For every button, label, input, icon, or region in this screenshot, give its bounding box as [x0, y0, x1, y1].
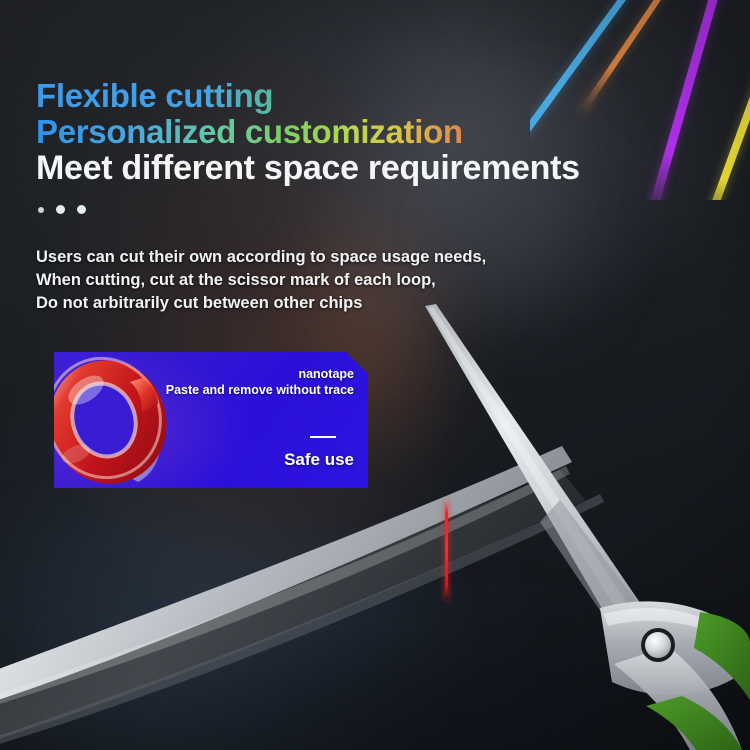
- dot-decoration: [38, 205, 86, 214]
- headline-line-2: Personalized customization: [36, 114, 580, 150]
- headline-line-1: Flexible cutting: [36, 78, 580, 114]
- body-line: When cutting, cut at the scissor mark of…: [36, 269, 486, 292]
- card-tagline: Paste and remove without trace: [166, 382, 354, 399]
- product-banner: Flexible cutting Personalized customizat…: [0, 0, 750, 750]
- decor-dot-icon: [77, 205, 86, 214]
- red-cut-mark: [445, 500, 448, 600]
- decor-dot-icon: [38, 207, 44, 213]
- headline-line-3: Meet different space requirements: [36, 150, 580, 186]
- card-brand: nanotape: [166, 366, 354, 382]
- card-divider: [310, 436, 336, 438]
- product-card: nanotape Paste and remove without trace …: [54, 352, 368, 488]
- body-line: Users can cut their own according to spa…: [36, 246, 486, 269]
- card-feature: Safe use: [284, 450, 354, 470]
- headline-block: Flexible cutting Personalized customizat…: [36, 78, 580, 186]
- decor-dot-icon: [56, 205, 65, 214]
- body-copy-block: Users can cut their own according to spa…: [36, 246, 486, 315]
- card-text-block: nanotape Paste and remove without trace: [166, 366, 354, 399]
- body-line: Do not arbitrarily cut between other chi…: [36, 292, 486, 315]
